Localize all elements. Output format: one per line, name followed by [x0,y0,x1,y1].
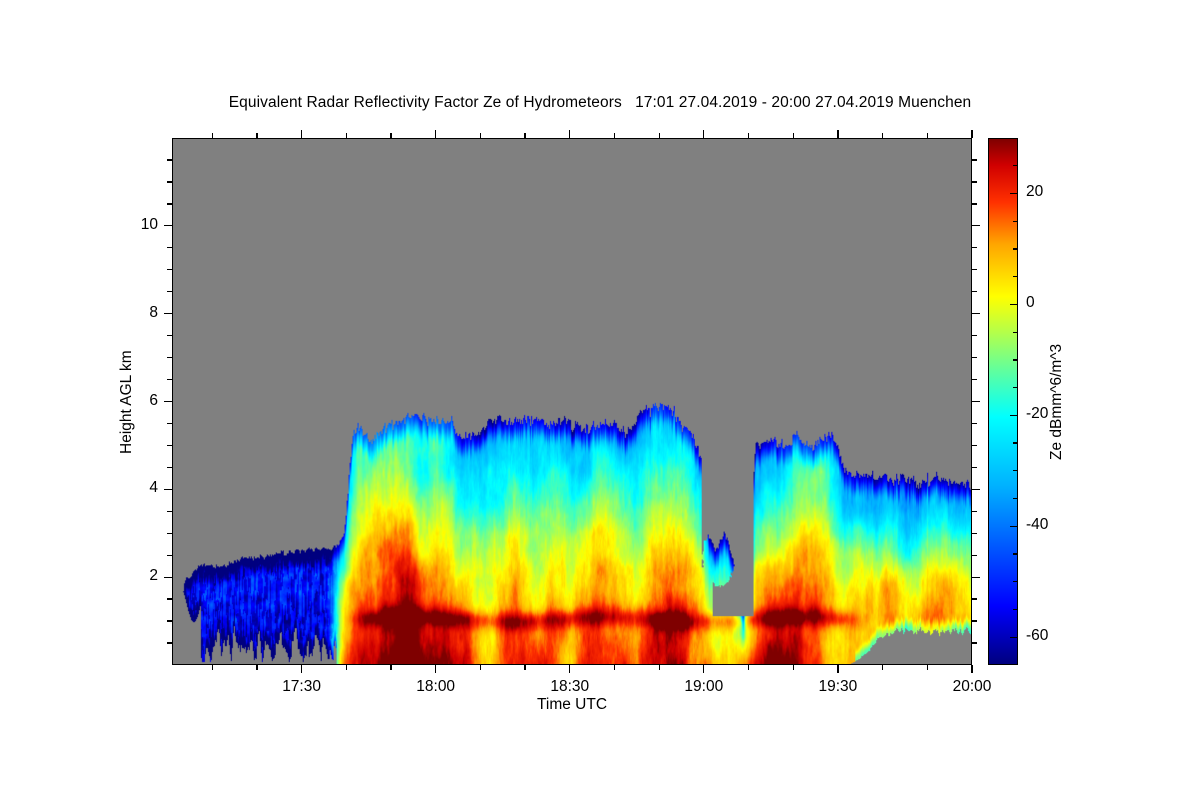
x-tick-major [301,665,302,673]
colorbar-tick-major [1010,637,1018,638]
x-tick-minor-top [793,133,794,138]
y-tick-major-right [972,489,980,490]
y-tick-major [164,577,172,578]
y-tick-minor-right [972,598,977,599]
y-axis-title: Height AGL km [118,350,136,454]
colorbar-tick-minor [1013,248,1018,249]
y-tick-minor-right [972,423,977,424]
y-tick-minor [167,335,172,336]
colorbar-tick-minor [1013,442,1018,443]
colorbar-tick-minor [1013,165,1018,166]
colorbar-tick-major [1010,304,1018,305]
y-tick-minor-right [972,533,977,534]
x-tick-minor-top [882,133,883,138]
y-tick-minor [167,291,172,292]
colorbar-title: Ze dBmm^6/m^3 [1048,343,1066,459]
x-tick-minor-top [614,133,615,138]
y-tick-minor-right [972,445,977,446]
y-tick-minor [167,379,172,380]
x-tick-minor-top [659,133,660,138]
y-tick-minor-right [972,357,977,358]
y-tick-major [164,489,172,490]
y-tick-major-right [972,401,980,402]
x-tick-minor-top [927,133,928,138]
x-tick-label: 19:00 [664,678,744,696]
colorbar-tick-minor [1013,581,1018,582]
colorbar [988,138,1018,665]
y-tick-label: 10 [94,216,158,234]
y-tick-major [164,225,172,226]
colorbar-gradient [989,139,1017,664]
x-tick-minor [882,665,883,670]
x-tick-minor [659,665,660,670]
x-tick-major [703,665,704,673]
y-tick-minor-right [972,291,977,292]
y-tick-major [164,401,172,402]
figure-root: Equivalent Radar Reflectivity Factor Ze … [0,0,1200,800]
x-tick-minor [480,665,481,670]
y-tick-minor [167,533,172,534]
y-tick-minor [167,357,172,358]
x-tick-minor [793,665,794,670]
x-tick-major-top [837,130,838,138]
figure-title: Equivalent Radar Reflectivity Factor Ze … [0,94,1200,112]
x-tick-minor [927,665,928,670]
x-tick-minor-top [256,133,257,138]
y-tick-minor-right [972,555,977,556]
x-tick-label: 18:00 [396,678,476,696]
y-tick-minor [167,642,172,643]
y-tick-minor [167,247,172,248]
x-tick-label: 17:30 [262,678,342,696]
y-tick-label: 4 [94,479,158,497]
y-tick-minor [167,555,172,556]
colorbar-tick-minor [1013,359,1018,360]
y-tick-minor [167,511,172,512]
y-tick-minor [167,445,172,446]
y-tick-major-right [972,225,980,226]
x-tick-minor [390,665,391,670]
y-tick-minor-right [972,511,977,512]
y-tick-minor-right [972,181,977,182]
y-tick-minor [167,467,172,468]
colorbar-tick-minor [1013,470,1018,471]
x-tick-major-top [569,130,570,138]
x-tick-minor-top [346,133,347,138]
y-tick-minor-right [972,159,977,160]
x-tick-minor-top [390,133,391,138]
x-tick-minor [614,665,615,670]
colorbar-tick-minor [1013,387,1018,388]
y-tick-major-right [972,577,980,578]
y-tick-minor-right [972,379,977,380]
x-tick-major-top [301,130,302,138]
y-tick-minor-right [972,269,977,270]
y-tick-minor-right [972,335,977,336]
colorbar-tick-label: -60 [1026,627,1048,645]
y-tick-minor-right [972,203,977,204]
x-tick-minor [748,665,749,670]
x-tick-major-top [703,130,704,138]
x-tick-minor-top [748,133,749,138]
reflectivity-canvas [173,139,971,664]
colorbar-tick-label: 20 [1026,183,1043,201]
x-tick-label: 19:30 [798,678,878,696]
x-tick-major-top [971,130,972,138]
radar-heatmap-plot [172,138,972,665]
colorbar-tick-label: -40 [1026,516,1048,534]
y-tick-minor [167,269,172,270]
colorbar-tick-minor [1013,221,1018,222]
y-tick-minor-right [972,467,977,468]
y-tick-minor [167,181,172,182]
colorbar-tick-minor [1013,276,1018,277]
x-tick-minor-top [524,133,525,138]
colorbar-tick-minor [1013,609,1018,610]
y-tick-minor-right [972,620,977,621]
x-tick-minor-top [212,133,213,138]
x-tick-major [971,665,972,673]
y-tick-major [164,313,172,314]
y-tick-minor [167,620,172,621]
x-tick-label: 18:30 [530,678,610,696]
y-tick-minor-right [972,642,977,643]
x-axis-title: Time UTC [172,696,972,714]
x-tick-minor [346,665,347,670]
colorbar-tick-label: -20 [1026,405,1048,423]
y-tick-label: 8 [94,304,158,322]
y-tick-minor [167,423,172,424]
y-tick-label: 2 [94,567,158,585]
y-tick-minor [167,203,172,204]
x-tick-minor-top [480,133,481,138]
x-tick-major [837,665,838,673]
colorbar-tick-major [1010,193,1018,194]
colorbar-tick-minor [1013,332,1018,333]
x-tick-minor [524,665,525,670]
x-tick-minor [256,665,257,670]
x-tick-major [569,665,570,673]
colorbar-tick-label: 0 [1026,294,1035,312]
colorbar-tick-major [1010,526,1018,527]
y-tick-major-right [972,313,980,314]
x-tick-label: 20:00 [932,678,1012,696]
y-tick-minor [167,159,172,160]
colorbar-tick-major [1010,415,1018,416]
colorbar-tick-minor [1013,553,1018,554]
x-tick-minor [212,665,213,670]
x-tick-major [435,665,436,673]
colorbar-tick-minor [1013,498,1018,499]
y-tick-minor [167,598,172,599]
y-tick-minor-right [972,247,977,248]
x-tick-major-top [435,130,436,138]
